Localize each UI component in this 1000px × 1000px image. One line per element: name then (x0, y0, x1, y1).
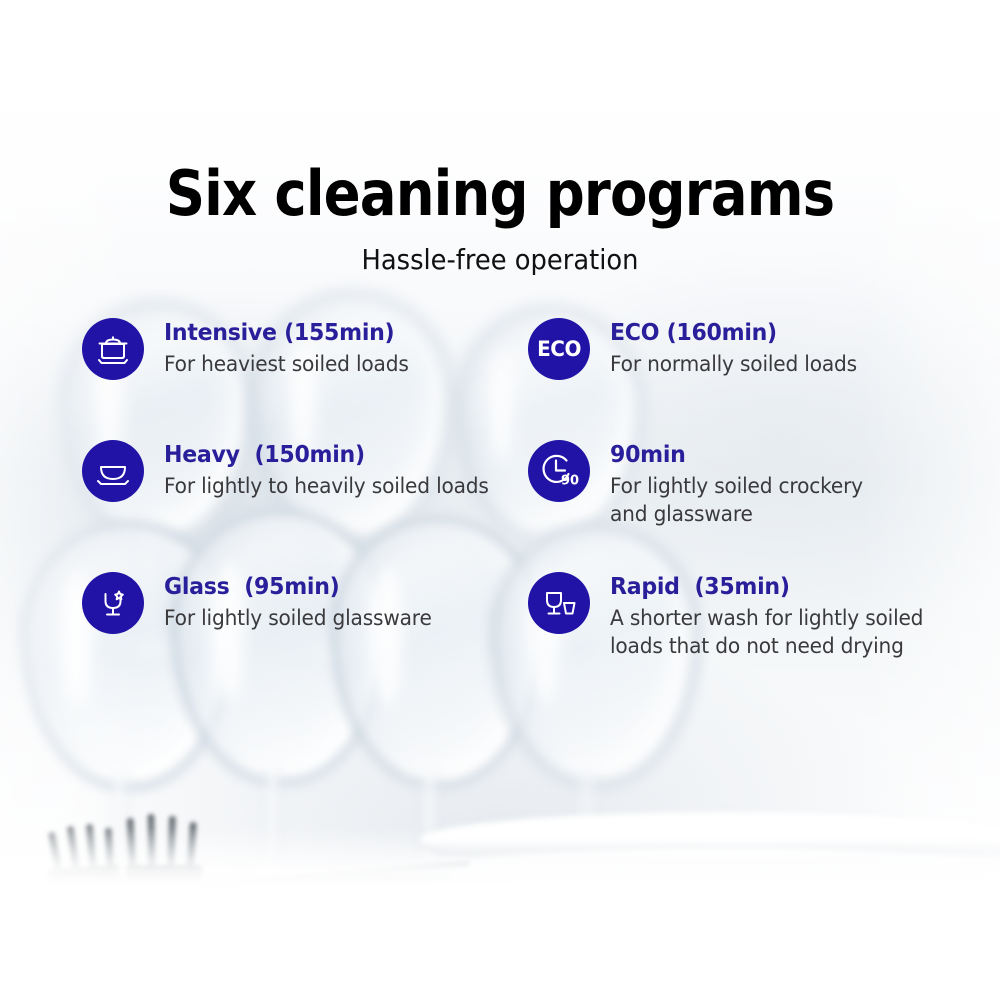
glass-sparkle-icon (82, 572, 144, 634)
program-name: Heavy (150min) (164, 442, 489, 468)
eco-icon-label: ECO (537, 337, 581, 361)
program-description: For lightly soiled crockery and glasswar… (610, 473, 863, 528)
program-item-intensive[interactable]: Intensive (155min) For heaviest soiled l… (82, 318, 419, 380)
program-text: Rapid (35min) A shorter wash for lightly… (610, 572, 936, 661)
program-name: ECO (160min) (610, 320, 857, 346)
svg-text:90': 90' (561, 474, 580, 489)
promo-banner: Six cleaning programs Hassle-free operat… (0, 0, 1000, 1000)
page-title: Six cleaning programs (60, 163, 940, 225)
program-item-90min[interactable]: 90' 90min For lightly soiled crockery an… (528, 440, 873, 529)
program-name: Glass (95min) (164, 574, 432, 600)
program-text: Intensive (155min) For heaviest soiled l… (164, 318, 419, 379)
program-text: Glass (95min) For lightly soiled glasswa… (164, 572, 443, 633)
page-subtitle: Hassle-free operation (40, 243, 960, 276)
program-text: ECO (160min) For normally soiled loads (610, 318, 867, 379)
program-name: 90min (610, 442, 863, 468)
pot-icon (82, 318, 144, 380)
program-description: A shorter wash for lightly soiled loads … (610, 605, 923, 660)
program-description: For normally soiled loads (610, 351, 857, 379)
eco-icon: ECO (528, 318, 590, 380)
glass-tumbler-icon (528, 572, 590, 634)
program-description: For lightly soiled glassware (164, 605, 432, 633)
program-description: For heaviest soiled loads (164, 351, 409, 379)
bowl-icon (82, 440, 144, 502)
program-item-eco[interactable]: ECO ECO (160min) For normally soiled loa… (528, 318, 867, 380)
program-text: Heavy (150min) For lightly to heavily so… (164, 440, 502, 501)
program-name: Intensive (155min) (164, 320, 409, 346)
program-item-glass[interactable]: Glass (95min) For lightly soiled glasswa… (82, 572, 443, 634)
program-name: Rapid (35min) (610, 574, 923, 600)
program-description: For lightly to heavily soiled loads (164, 473, 489, 501)
photo-bottom-fade (0, 828, 1000, 888)
program-item-heavy[interactable]: Heavy (150min) For lightly to heavily so… (82, 440, 502, 502)
program-item-rapid[interactable]: Rapid (35min) A shorter wash for lightly… (528, 572, 936, 661)
program-text: 90min For lightly soiled crockery and gl… (610, 440, 873, 529)
clock-90-icon: 90' (528, 440, 590, 502)
